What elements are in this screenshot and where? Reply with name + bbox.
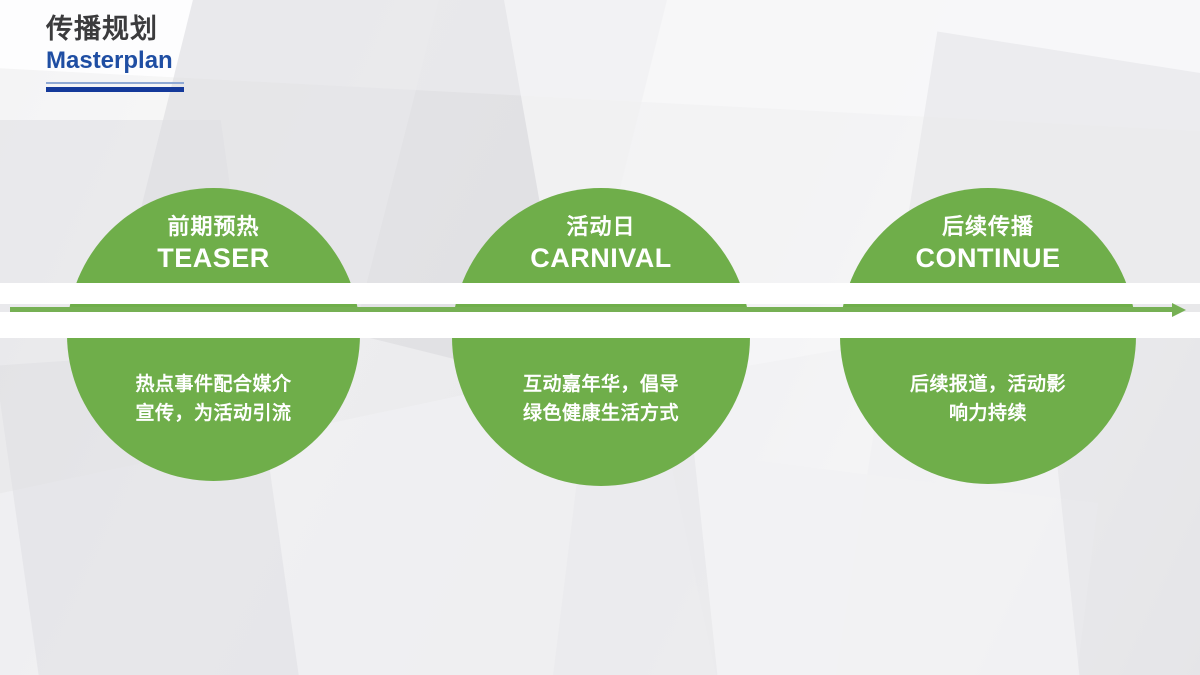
phase-body-line: 宣传，为活动引流: [67, 399, 360, 428]
page-title-en: Masterplan: [46, 47, 306, 76]
phase-heading-en: CARNIVAL: [452, 242, 750, 276]
phase-body-continue: 后续报道，活动影 响力持续: [840, 370, 1136, 429]
phase-body-line: 响力持续: [840, 399, 1136, 428]
slide-title-block: 传播规划 Masterplan: [46, 14, 306, 92]
phase-body-line: 热点事件配合媒介: [67, 370, 360, 399]
timeline-arrow: [0, 303, 1200, 317]
title-underline: [46, 82, 184, 92]
phase-body-line: 互动嘉年华，倡导: [452, 370, 750, 399]
phase-body-teaser: 热点事件配合媒介 宣传，为活动引流: [67, 370, 360, 429]
phase-body-line: 后续报道，活动影: [840, 370, 1136, 399]
phase-heading-cn: 活动日: [452, 213, 750, 242]
phase-heading-continue: 后续传播 CONTINUE: [840, 213, 1136, 275]
timeline-arrow-line: [10, 307, 1178, 312]
phase-heading-en: CONTINUE: [840, 242, 1136, 276]
right-arrow-icon: [1172, 303, 1186, 317]
phase-heading-en: TEASER: [67, 242, 360, 276]
phase-heading-cn: 前期预热: [67, 213, 360, 242]
phase-body-carnival: 互动嘉年华，倡导 绿色健康生活方式: [452, 370, 750, 429]
phase-heading-teaser: 前期预热 TEASER: [67, 213, 360, 275]
title-underline-thick: [46, 87, 184, 92]
page-title-cn: 传播规划: [46, 14, 306, 46]
phase-heading-cn: 后续传播: [840, 213, 1136, 242]
phase-heading-carnival: 活动日 CARNIVAL: [452, 213, 750, 275]
timeline-band-upper: [0, 283, 1200, 304]
slide-canvas: 传播规划 Masterplan 前期预热 TEASER 活动日 CARNIVAL…: [0, 0, 1200, 675]
phase-body-line: 绿色健康生活方式: [452, 399, 750, 428]
